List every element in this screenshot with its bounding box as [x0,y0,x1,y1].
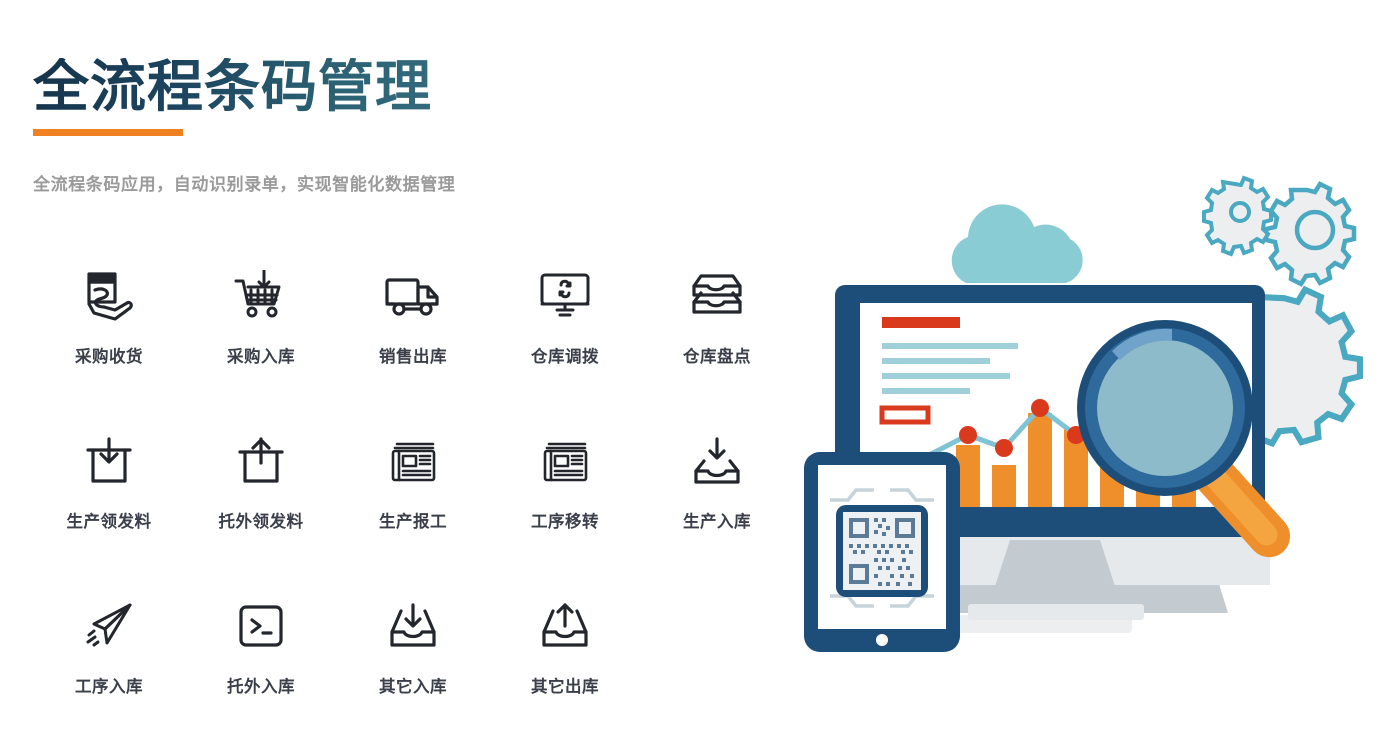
tablet-device [804,452,960,652]
gear-medium-hole [1297,212,1333,248]
feature-label: 生产入库 [683,508,751,532]
feature-item-production-inbound[interactable]: 生产入库 [641,431,793,532]
qr-code [836,505,928,597]
feature-label: 托外入库 [227,673,295,697]
tablet-home-button [876,634,888,646]
delivery-truck-icon [384,266,442,326]
feature-item-purchase-inbound[interactable]: 采购入库 [185,266,337,367]
tray-arrow-down-icon [386,596,440,656]
cart-download-icon [233,266,289,326]
page-title: 全流程条码管理 [33,58,432,117]
feature-label: 生产报工 [379,508,447,532]
feature-item-production-issue[interactable]: 生产领发料 [33,431,185,532]
feature-label: 工序移转 [531,508,599,532]
page-subtitle: 全流程条码应用，自动识别录单，实现智能化数据管理 [33,170,455,195]
feature-label: 仓库调拨 [531,343,599,367]
feature-item-outsourced-issue[interactable]: 托外领发料 [185,431,337,532]
terminal-console-icon [238,596,284,656]
trend-marker [959,426,977,444]
feature-label: 采购收货 [75,343,143,367]
hand-receiving-box-icon [81,266,137,326]
gear-small-hole [1231,203,1249,221]
title-underline-rule [33,129,183,136]
feature-label: 工序入库 [75,673,143,697]
feature-item-process-transfer[interactable]: 工序移转 [489,431,641,532]
feature-item-warehouse-stocktake[interactable]: 仓库盘点 [641,266,793,367]
bar-2 [992,465,1016,507]
feature-label: 其它入库 [379,673,447,697]
screen-text-line [882,373,1010,379]
feature-item-production-report[interactable]: 生产报工 [337,431,489,532]
feature-item-warehouse-transfer[interactable]: 仓库调拨 [489,266,641,367]
cloud-shape [952,204,1083,283]
tray-arrow-up-icon [538,596,592,656]
feature-label: 生产领发料 [67,508,152,532]
screen-text-line [882,358,990,364]
feature-item-sales-outbound[interactable]: 销售出库 [337,266,489,367]
monitor-stand-base [968,604,1144,620]
screen-text-line [882,388,970,394]
newspaper-transfer-icon [541,431,589,491]
feature-label: 托外领发料 [219,508,304,532]
feature-item-process-inbound[interactable]: 工序入库 [33,596,185,697]
feature-item-other-outbound[interactable]: 其它出库 [489,596,641,697]
barcode-analytics-illustration [790,160,1378,680]
magnifier-lens [1097,340,1233,476]
trend-marker [995,439,1013,457]
paper-plane-icon [84,596,134,656]
monitor-transfer-icon [539,266,591,326]
bar-3 [1028,413,1052,507]
screen-header-bar [882,317,960,328]
inbox-arrow-down-icon [690,431,744,491]
feature-label: 其它出库 [531,673,599,697]
monitor-stand-neck [988,540,1122,608]
feature-item-outsourced-inbound[interactable]: 托外入库 [185,596,337,697]
feature-item-other-inbound[interactable]: 其它入库 [337,596,489,697]
page-root: 全流程条码管理 全流程条码应用，自动识别录单，实现智能化数据管理 采购收货 [0,0,1378,755]
box-arrow-down-icon [84,431,134,491]
feature-label: 采购入库 [227,343,295,367]
screen-text-line [882,343,1018,349]
newspaper-report-icon [389,431,437,491]
box-arrow-up-icon [236,431,286,491]
feature-grid: 采购收货 采购入库 [33,266,793,697]
feature-item-purchase-receipt[interactable]: 采购收货 [33,266,185,367]
trend-marker [1031,399,1049,417]
stacked-trays-icon [689,266,745,326]
feature-label: 销售出库 [379,343,447,367]
feature-label: 仓库盘点 [683,343,751,367]
page-title-block: 全流程条码管理 [33,58,432,136]
